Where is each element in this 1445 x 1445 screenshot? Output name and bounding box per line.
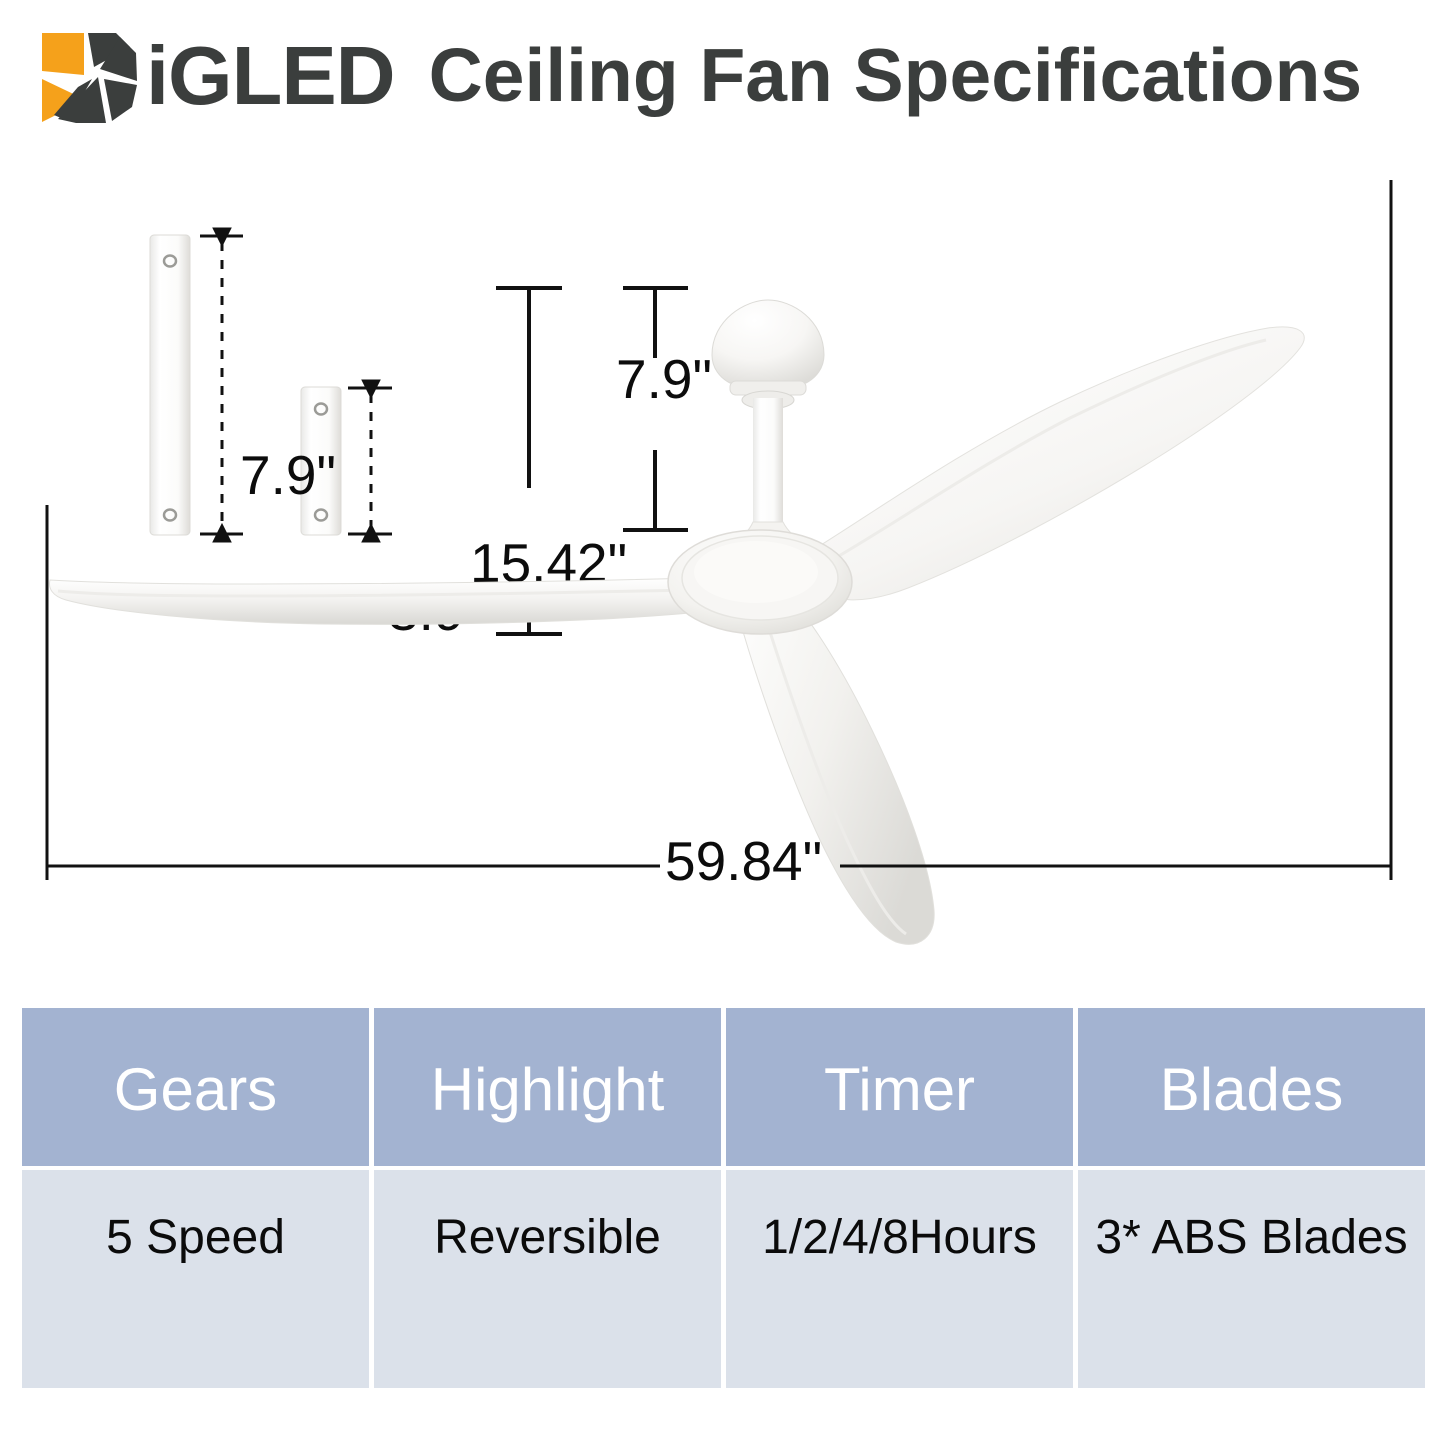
table-value-cell-timer: 1/2/4/8Hours bbox=[726, 1170, 1073, 1388]
table-header-cell-blades: Blades bbox=[1078, 1008, 1425, 1166]
specification-table: Gears Highlight Timer Blades 5 Speed Rev… bbox=[22, 1008, 1425, 1388]
table-value-cell-blades: 3* ABS Blades bbox=[1078, 1170, 1425, 1388]
dimension-downrod-short bbox=[348, 380, 392, 542]
table-header-cell-timer: Timer bbox=[726, 1008, 1073, 1166]
product-dimension-diagram: 7.9" 3.9" 15.42" 7.9" bbox=[0, 150, 1445, 990]
dimension-blade-span bbox=[47, 180, 1391, 880]
page-header: iGLED Ceiling Fan Specifications bbox=[0, 0, 1445, 150]
dimension-label-downrod-long: 7.9" bbox=[240, 444, 336, 506]
digled-aperture-logo-icon bbox=[38, 27, 150, 127]
table-header-cell-gears: Gears bbox=[22, 1008, 369, 1166]
table-value-row: 5 Speed Reversible 1/2/4/8Hours 3* ABS B… bbox=[22, 1170, 1425, 1388]
downrod-long-illustration bbox=[150, 235, 190, 535]
table-value-cell-gears: 5 Speed bbox=[22, 1170, 369, 1388]
dimension-label-drop-height: 7.9" bbox=[616, 348, 712, 410]
brand-name: iGLED bbox=[146, 34, 395, 117]
table-header-cell-highlight: Highlight bbox=[374, 1008, 721, 1166]
page-title: Ceiling Fan Specifications bbox=[429, 38, 1363, 113]
table-value-cell-highlight: Reversible bbox=[374, 1170, 721, 1388]
dimension-downrod-long bbox=[200, 228, 243, 542]
dimension-label-blade-span: 59.84" bbox=[665, 830, 822, 892]
table-header-row: Gears Highlight Timer Blades bbox=[22, 1008, 1425, 1166]
